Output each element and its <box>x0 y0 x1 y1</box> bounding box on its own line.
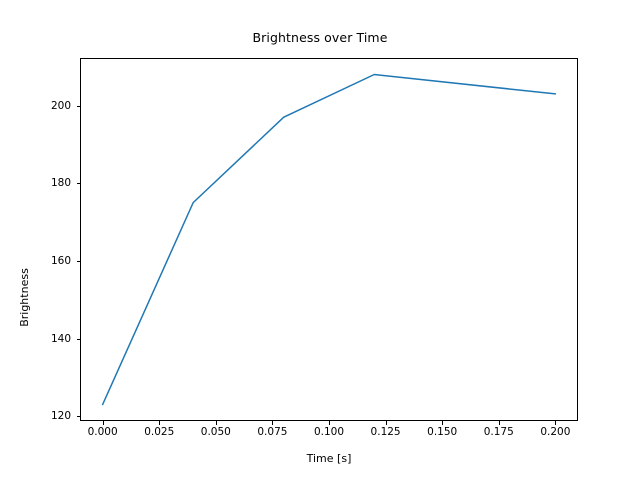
x-tick-label: 0.175 <box>484 426 514 438</box>
y-axis-label: Brightness <box>18 116 32 479</box>
chart-title: Brightness over Time <box>0 30 640 45</box>
y-tick-mark <box>77 183 81 184</box>
y-tick-mark <box>77 416 81 417</box>
x-tick-label: 0.100 <box>314 426 344 438</box>
x-tick-mark <box>442 421 443 425</box>
chart-figure: Brightness over Time 0.0000.0250.0500.07… <box>0 0 640 480</box>
y-tick-label: 180 <box>51 177 71 189</box>
x-tick-label: 0.025 <box>144 426 174 438</box>
y-tick-mark <box>77 106 81 107</box>
x-axis-label: Time [s] <box>80 452 578 465</box>
x-tick-mark <box>555 421 556 425</box>
x-tick-label: 0.125 <box>371 426 401 438</box>
x-tick-mark <box>103 421 104 425</box>
x-tick-mark <box>329 421 330 425</box>
x-tick-label: 0.150 <box>427 426 457 438</box>
plot-area <box>80 58 578 421</box>
x-tick-label: 0.200 <box>540 426 570 438</box>
x-tick-mark <box>272 421 273 425</box>
x-tick-label: 0.050 <box>201 426 231 438</box>
y-tick-label: 160 <box>51 255 71 267</box>
y-tick-label: 120 <box>51 410 71 422</box>
x-tick-mark <box>216 421 217 425</box>
y-tick-mark <box>77 339 81 340</box>
y-tick-mark <box>77 261 81 262</box>
y-tick-label: 140 <box>51 333 71 345</box>
x-tick-label: 0.000 <box>88 426 118 438</box>
y-axis-label-wrapper: Brightness <box>18 58 32 421</box>
data-series-brightness <box>103 75 556 405</box>
x-tick-mark <box>386 421 387 425</box>
x-tick-mark <box>159 421 160 425</box>
y-tick-label: 200 <box>51 100 71 112</box>
x-tick-mark <box>499 421 500 425</box>
x-tick-label: 0.075 <box>257 426 287 438</box>
